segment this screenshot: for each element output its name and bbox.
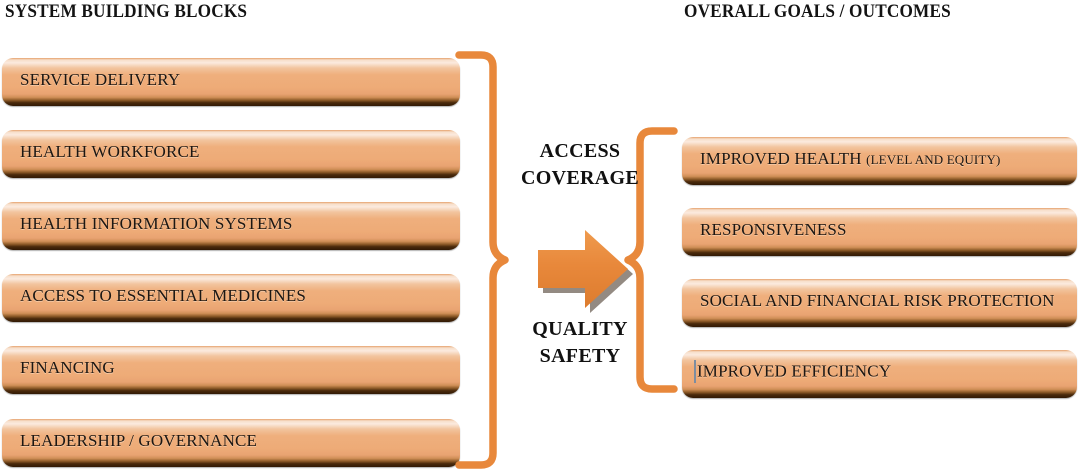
building-block-label: HEALTH WORKFORCE (2, 142, 200, 162)
center-label-line-safety: SAFETY (500, 343, 660, 370)
goal-label-main: IMPROVED HEALTH (700, 149, 866, 168)
center-label-line-coverage: COVERAGE (500, 165, 660, 192)
building-block-box-service-delivery[interactable]: SERVICE DELIVERY (2, 58, 460, 106)
pill-inner: IMPROVED HEALTH (LEVEL AND EQUITY) (682, 137, 1077, 185)
center-label-quality-safety: QUALITY SAFETY (500, 316, 660, 370)
goal-label: IMPROVED EFFICIENCY (682, 361, 891, 384)
building-block-label: LEADERSHIP / GOVERNANCE (2, 431, 257, 451)
left-bracket (455, 50, 515, 470)
goal-label-main: RESPONSIVENESS (700, 220, 847, 239)
column-header-overall-goals: OVERALL GOALS / OUTCOMES (684, 2, 951, 23)
goal-box-social-financial-risk-protection[interactable]: SOCIAL AND FINANCIAL RISK PROTECTION (682, 279, 1077, 327)
goal-box-improved-health[interactable]: IMPROVED HEALTH (LEVEL AND EQUITY) (682, 137, 1077, 185)
building-block-box-financing[interactable]: FINANCING (2, 346, 460, 394)
building-block-label: HEALTH INFORMATION SYSTEMS (2, 214, 292, 234)
pill-inner: SERVICE DELIVERY (2, 58, 460, 106)
goal-label: IMPROVED HEALTH (LEVEL AND EQUITY) (682, 149, 1000, 169)
goal-label-main: SOCIAL AND FINANCIAL RISK PROTECTION (700, 291, 1055, 310)
center-label-line-access: ACCESS (500, 138, 660, 165)
pill-inner: IMPROVED EFFICIENCY (682, 350, 1077, 398)
building-block-box-access-to-essential-medicines[interactable]: ACCESS TO ESSENTIAL MEDICINES (2, 274, 460, 322)
goal-label: RESPONSIVENESS (682, 220, 847, 240)
pill-inner: FINANCING (2, 346, 460, 394)
flow-arrow (528, 222, 638, 314)
building-block-label: FINANCING (2, 358, 115, 378)
building-block-box-leadership-governance[interactable]: LEADERSHIP / GOVERNANCE (2, 419, 460, 467)
pill-inner: LEADERSHIP / GOVERNANCE (2, 419, 460, 467)
pill-inner: ACCESS TO ESSENTIAL MEDICINES (2, 274, 460, 322)
diagram-canvas: SYSTEM BUILDING BLOCKS OVERALL GOALS / O… (0, 0, 1084, 472)
building-block-box-health-workforce[interactable]: HEALTH WORKFORCE (2, 130, 460, 178)
pill-inner: RESPONSIVENESS (682, 208, 1077, 256)
goal-label: SOCIAL AND FINANCIAL RISK PROTECTION (682, 291, 1055, 311)
column-header-system-building-blocks: SYSTEM BUILDING BLOCKS (5, 2, 247, 23)
building-block-label: SERVICE DELIVERY (2, 70, 180, 90)
building-block-box-health-information-systems[interactable]: HEALTH INFORMATION SYSTEMS (2, 202, 460, 250)
center-label-line-quality: QUALITY (500, 316, 660, 343)
pill-inner: SOCIAL AND FINANCIAL RISK PROTECTION (682, 279, 1077, 327)
goal-box-responsiveness[interactable]: RESPONSIVENESS (682, 208, 1077, 256)
goal-box-improved-efficiency[interactable]: IMPROVED EFFICIENCY (682, 350, 1077, 398)
text-caret (694, 360, 696, 383)
pill-inner: HEALTH WORKFORCE (2, 130, 460, 178)
goal-label-main: IMPROVED EFFICIENCY (697, 361, 891, 380)
pill-inner: HEALTH INFORMATION SYSTEMS (2, 202, 460, 250)
building-block-label: ACCESS TO ESSENTIAL MEDICINES (2, 286, 306, 306)
goal-label-sub: (LEVEL AND EQUITY) (866, 152, 1000, 167)
center-label-access-coverage: ACCESS COVERAGE (500, 138, 660, 192)
right-arrow-icon (528, 222, 638, 314)
